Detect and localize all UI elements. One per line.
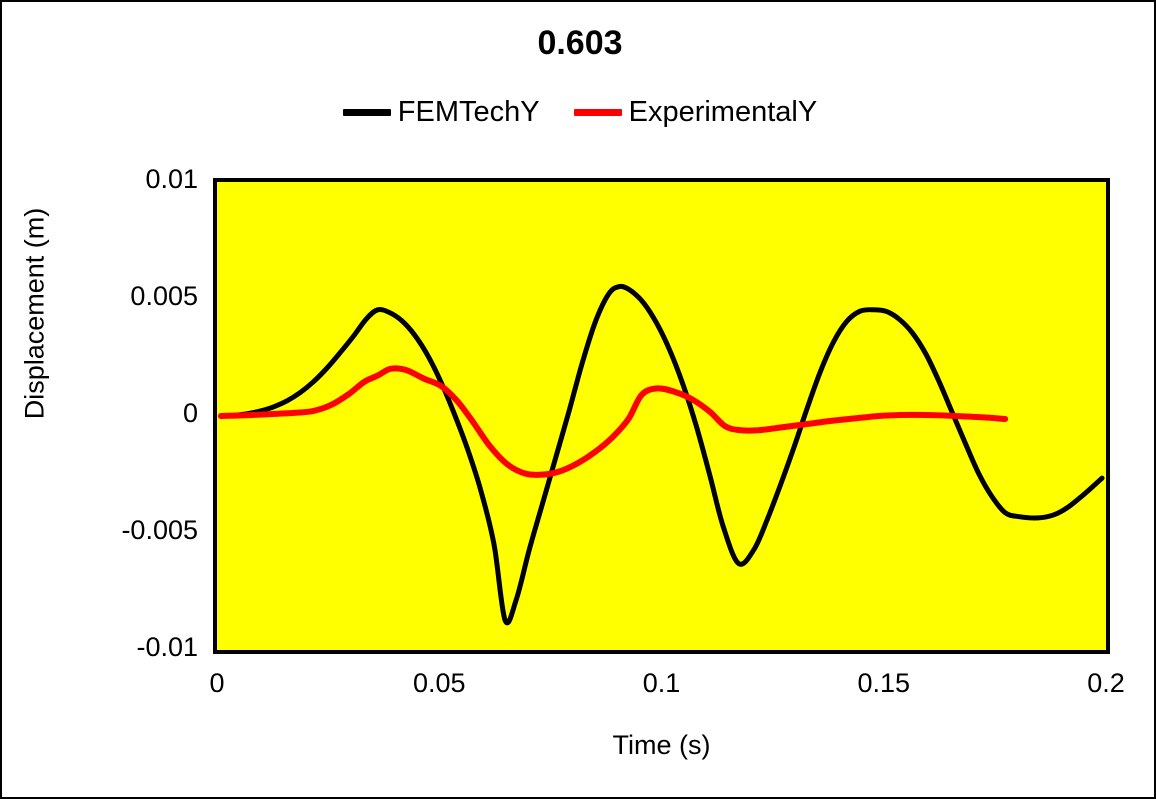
legend-label-experimentaly: ExperimentalY: [629, 98, 818, 127]
legend-item-femtechy[interactable]: FEMTechY: [343, 98, 540, 127]
y-tick-label: 0: [2, 398, 198, 429]
y-tick-label: -0.005: [2, 515, 198, 546]
y-tick-label: -0.01: [2, 632, 198, 663]
legend-label-femtechy: FEMTechY: [398, 98, 540, 127]
x-tick-label: 0: [209, 668, 224, 699]
chart-figure: 0.603 FEMTechY ExperimentalY Displacemen…: [0, 0, 1156, 799]
x-axis-label: Time (s): [213, 730, 1110, 761]
x-tick-label: 0.05: [413, 668, 466, 699]
x-tick-label: 0.1: [643, 668, 681, 699]
legend-line-swatch-red: [574, 109, 622, 116]
legend-line-swatch-black: [343, 109, 391, 116]
series-line-experimentaly: [221, 368, 1005, 475]
chart-title: 0.603: [2, 24, 1156, 63]
plot-area: [213, 178, 1110, 654]
legend-item-experimentaly[interactable]: ExperimentalY: [574, 98, 818, 127]
plot-svg: [217, 182, 1106, 650]
x-tick-label: 0.15: [857, 668, 910, 699]
chart-legend: FEMTechY ExperimentalY: [2, 98, 1156, 127]
x-tick-label: 0.2: [1087, 668, 1125, 699]
y-tick-label: 0.005: [2, 281, 198, 312]
series-line-femtechy: [221, 286, 1102, 622]
y-tick-label: 0.01: [2, 164, 198, 195]
